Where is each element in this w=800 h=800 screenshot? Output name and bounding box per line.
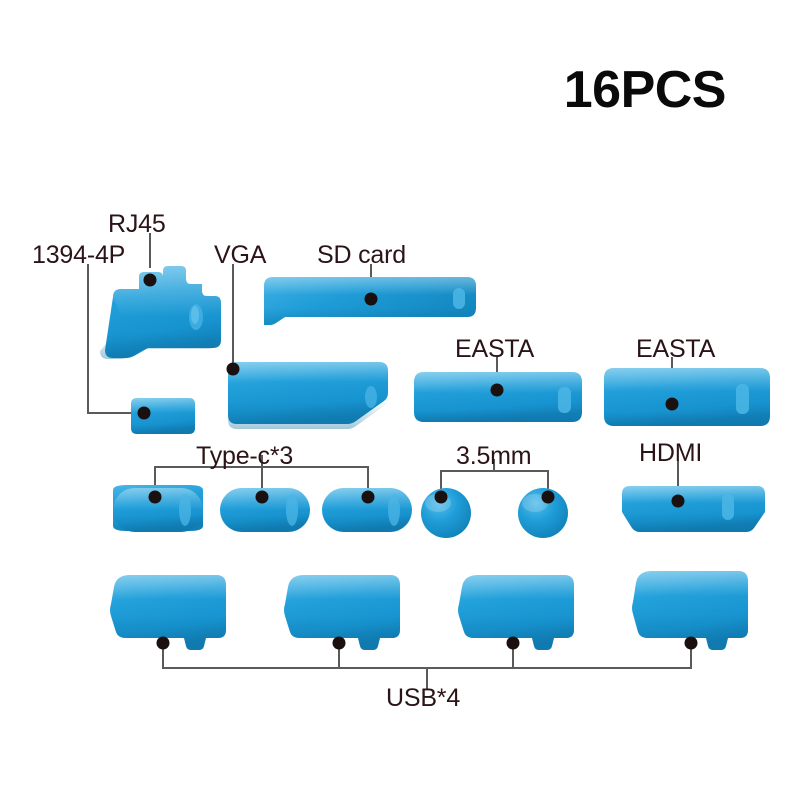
easta-plug-2 (604, 368, 770, 426)
dot-usb-3 (507, 637, 520, 650)
dot-rj45 (144, 274, 157, 287)
dot-type-c-2 (256, 491, 269, 504)
label-type-c: Type-c*3 (196, 444, 293, 469)
label-usb: USB*4 (386, 686, 460, 711)
dot-type-c-3 (362, 491, 375, 504)
label-vga: VGA (214, 243, 266, 268)
leader-usb-bracket (163, 645, 691, 668)
dot-sd-card (365, 293, 378, 306)
dot-usb-4 (685, 637, 698, 650)
label-sd-card: SD card (317, 243, 406, 268)
usb-plug-1 (110, 575, 226, 650)
leader-3-5mm-bracket (441, 471, 548, 492)
label-hdmi: HDMI (639, 441, 702, 466)
label-3-5mm: 3.5mm (456, 444, 531, 469)
label-rj45: RJ45 (108, 212, 166, 237)
dot-easta-1 (491, 384, 504, 397)
pieces-count-badge: 16PCS (564, 64, 726, 116)
label-easta-2: EASTA (636, 337, 715, 362)
dot-hdmi (672, 495, 685, 508)
dot-1394-4p (138, 407, 151, 420)
easta-plug-1 (414, 372, 582, 422)
dot-3-5mm-2 (542, 491, 555, 504)
dot-vga (227, 363, 240, 376)
vga-plug (228, 362, 388, 429)
hdmi-plug (622, 486, 765, 532)
dot-easta-2 (666, 398, 679, 411)
dot-usb-2 (333, 637, 346, 650)
product-image-canvas: 16PCS 1394-4PRJ45VGASD cardEASTAEASTATyp… (0, 0, 800, 800)
silicone-dust-plug-set-illustration (0, 0, 800, 800)
rj45-plug (100, 266, 221, 359)
label-easta-1: EASTA (455, 337, 534, 362)
label-1394-4p: 1394-4P (32, 243, 125, 268)
dot-type-c-1 (149, 491, 162, 504)
dot-3-5mm-1 (435, 491, 448, 504)
dot-usb-1 (157, 637, 170, 650)
